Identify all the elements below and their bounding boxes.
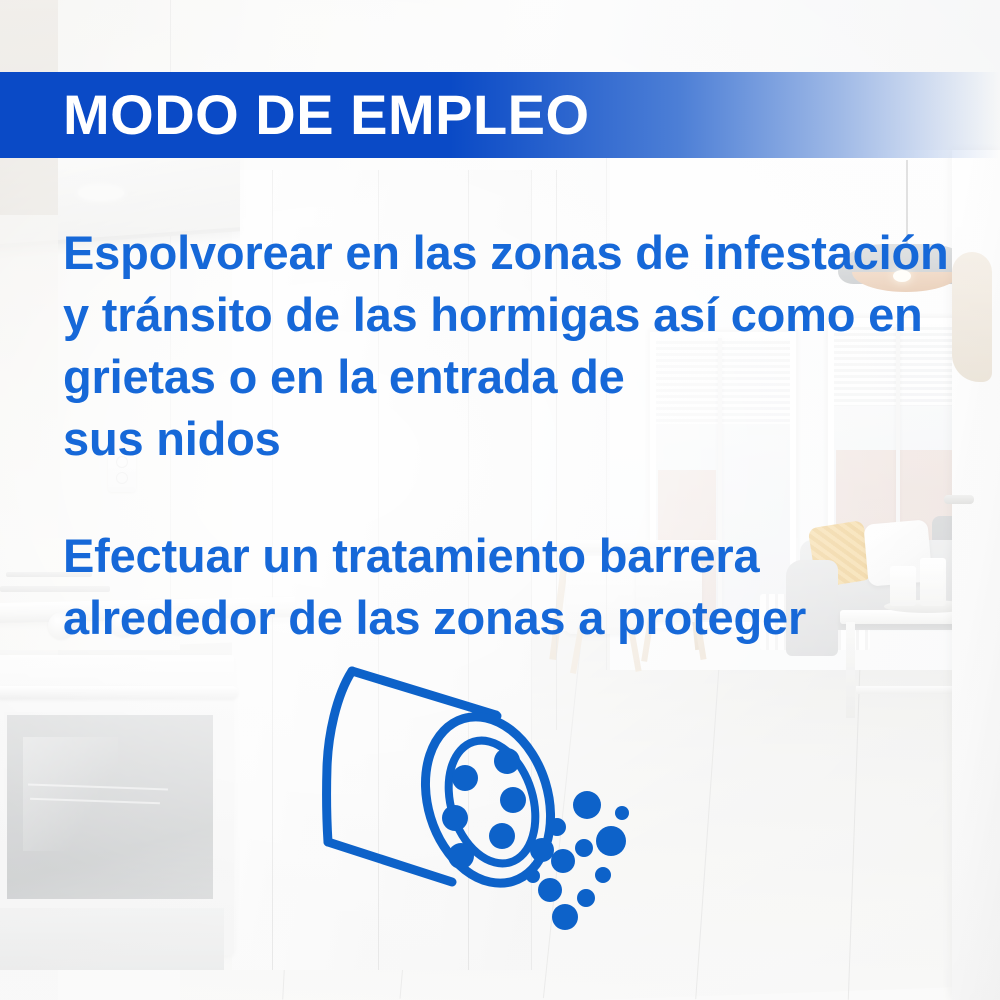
- cap-hole: [500, 787, 526, 813]
- granule: [573, 791, 601, 819]
- cap-hole: [489, 823, 515, 849]
- instruction-line: Espolvorear en las zonas de infestación: [63, 222, 963, 284]
- granule: [548, 818, 566, 836]
- cap-hole: [442, 805, 468, 831]
- instruction-paragraph-1: Espolvorear en las zonas de infestación …: [63, 222, 963, 470]
- instructions-block: Espolvorear en las zonas de infestación …: [63, 222, 963, 649]
- granule: [526, 869, 540, 883]
- granule: [575, 839, 593, 857]
- granule: [552, 904, 578, 930]
- header-banner: MODO DE EMPLEO: [0, 72, 1000, 158]
- poster-canvas: MODO DE EMPLEO Espolvorear en las zonas …: [0, 0, 1000, 1000]
- granule: [538, 878, 562, 902]
- instruction-line: Efectuar un tratamiento barrera: [63, 525, 963, 587]
- shaker-cap-outer-ring: [406, 701, 570, 899]
- granule: [551, 849, 575, 873]
- granule: [596, 826, 626, 856]
- instruction-line: sus nidos: [63, 408, 963, 470]
- powder-shaker-icon: [300, 640, 680, 970]
- cap-hole: [452, 765, 478, 791]
- granule: [595, 867, 611, 883]
- cap-hole: [448, 843, 474, 869]
- powder-shaker-illustration: [300, 640, 680, 970]
- powder-granules: [526, 791, 629, 930]
- instruction-line: y tránsito de las hormigas así como en: [63, 284, 963, 346]
- page-title: MODO DE EMPLEO: [63, 87, 590, 143]
- instruction-line: grietas o en la entrada de: [63, 346, 963, 408]
- granule: [615, 806, 629, 820]
- granule: [530, 838, 554, 862]
- granule: [577, 889, 595, 907]
- instruction-paragraph-2: Efectuar un tratamiento barrera alrededo…: [63, 525, 963, 649]
- cap-hole: [494, 748, 520, 774]
